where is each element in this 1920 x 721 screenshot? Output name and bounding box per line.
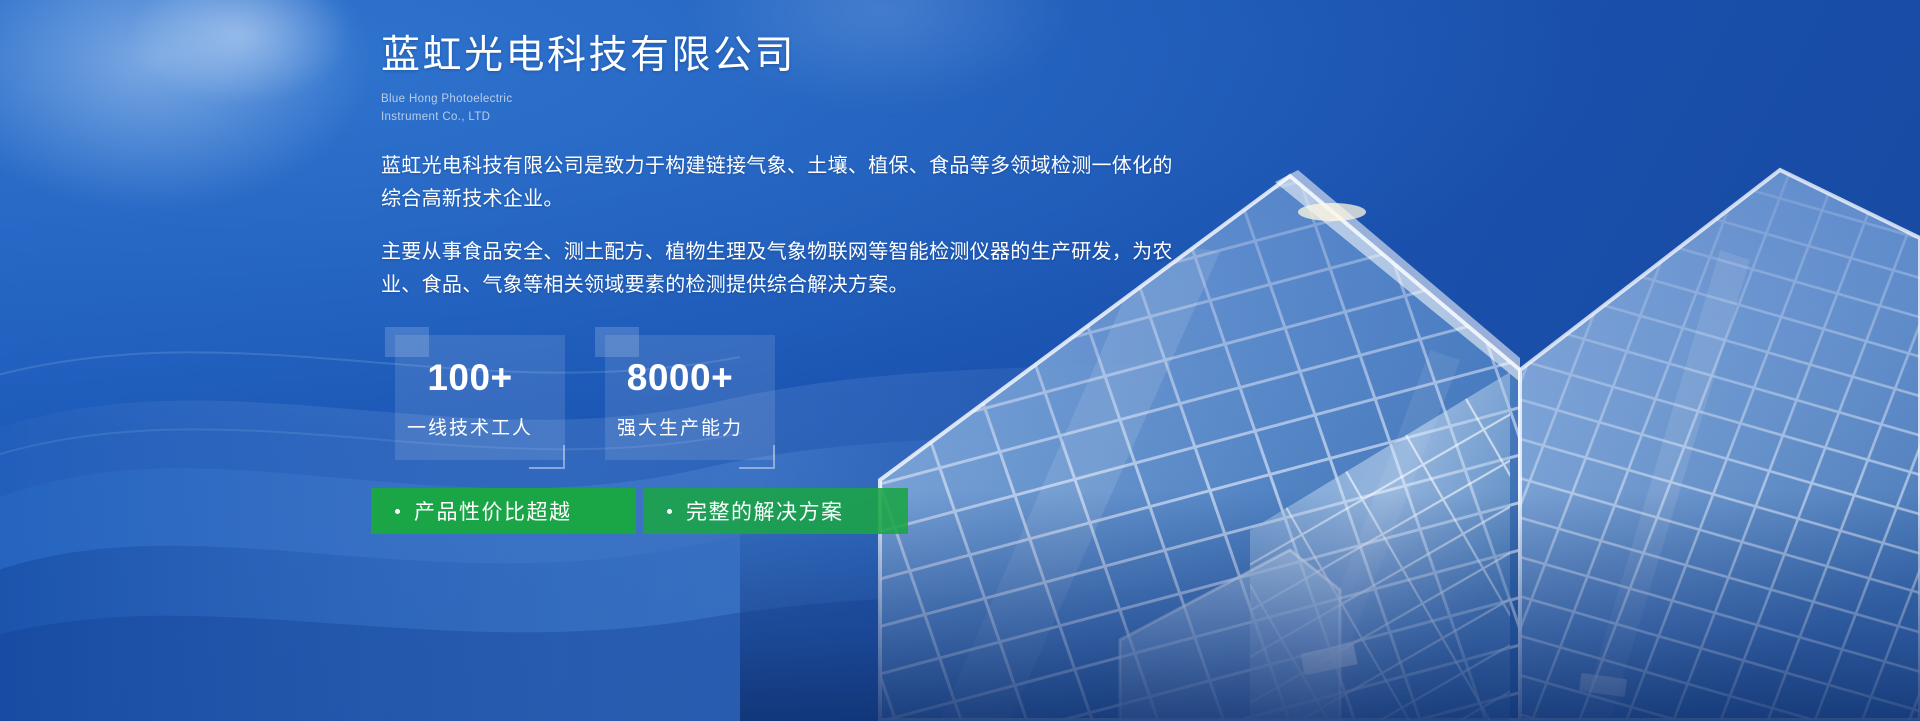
intro-paragraph-2: 主要从事食品安全、测土配方、植物生理及气象物联网等智能检测仪器的生产研发，为农业… xyxy=(381,236,1187,301)
stat-card: 8000+ 强大生产能力 xyxy=(595,335,765,460)
foreground-shadow xyxy=(740,491,1920,721)
corner-accent-bottom-right xyxy=(739,445,775,469)
intro-paragraph-1: 蓝虹光电科技有限公司是致力于构建链接气象、土壤、植保、食品等多领域检测一体化的综… xyxy=(381,150,1187,215)
company-name-english-line2: Instrument Co., LTD xyxy=(381,109,1481,127)
dot-icon xyxy=(667,509,672,514)
company-hero-banner: 蓝虹光电科技有限公司 Blue Hong Photoelectric Instr… xyxy=(0,0,1920,721)
stat-label: 一线技术工人 xyxy=(385,413,555,440)
feature-tag-label: 产品性价比超越 xyxy=(414,496,572,526)
stat-value: 100+ xyxy=(385,357,555,400)
corner-accent-top-left xyxy=(595,327,639,357)
corner-accent-bottom-right xyxy=(529,445,565,469)
feature-tag-complete-solution[interactable]: 完整的解决方案 xyxy=(643,488,908,534)
dot-icon xyxy=(395,509,400,514)
hero-content: 蓝虹光电科技有限公司 Blue Hong Photoelectric Instr… xyxy=(381,33,1481,460)
stats-group: 100+ 一线技术工人 8000+ 强大生产能力 xyxy=(385,335,1481,460)
company-name-english: Blue Hong Photoelectric Instrument Co., … xyxy=(381,91,1481,127)
cloud-highlight-small xyxy=(90,0,390,130)
feature-tags-group: 产品性价比超越 完整的解决方案 xyxy=(371,488,908,534)
feature-tag-price-advantage[interactable]: 产品性价比超越 xyxy=(371,488,636,534)
page-title: 蓝虹光电科技有限公司 xyxy=(381,33,1481,80)
company-name-english-line1: Blue Hong Photoelectric xyxy=(381,91,1481,109)
corner-accent-top-left xyxy=(385,327,429,357)
stat-value: 8000+ xyxy=(595,357,765,400)
stat-card: 100+ 一线技术工人 xyxy=(385,335,555,460)
stat-label: 强大生产能力 xyxy=(595,413,765,440)
feature-tag-label: 完整的解决方案 xyxy=(686,496,844,526)
